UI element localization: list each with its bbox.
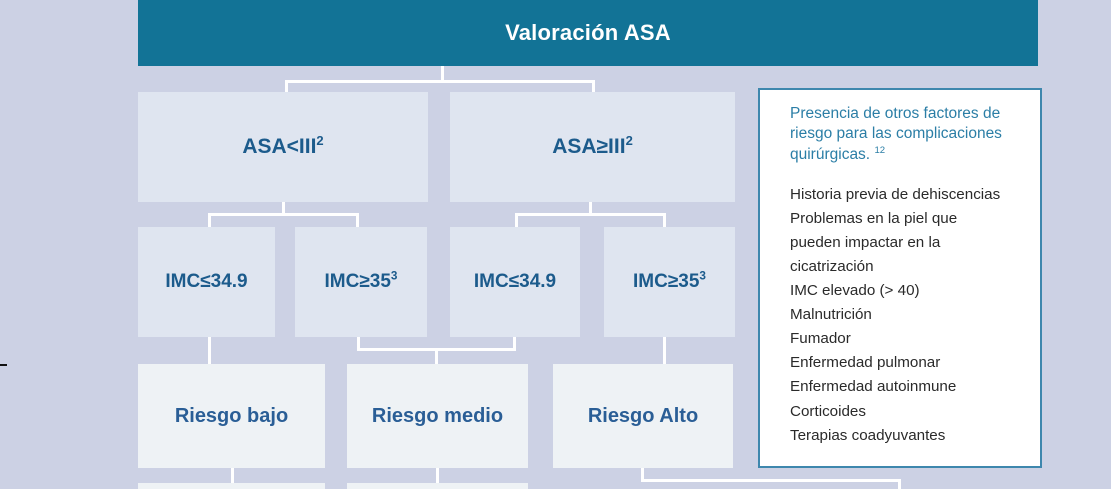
connector-bottom-horizontal <box>641 479 901 482</box>
info-panel-title: Presencia de otros factores de riesgo pa… <box>790 104 1022 165</box>
node-imc-4-superscript: 3 <box>699 270 706 283</box>
node-asa-high[interactable]: ASA≥III2 <box>450 92 735 202</box>
list-item: Malnutrición <box>790 303 1022 327</box>
list-item: Terapias coadyuvantes <box>790 424 1022 448</box>
node-imc-1-label: IMC≤34.9 <box>165 271 247 293</box>
connector-asa-low-up <box>285 80 288 92</box>
list-item: Enfermedad autoinmune <box>790 375 1022 399</box>
connector-imc-4-down <box>663 336 666 365</box>
node-valoracion-asa-label: Valoración ASA <box>505 20 671 46</box>
connector-imc-3-up <box>515 213 518 227</box>
node-imc-1[interactable]: IMC≤34.9 <box>138 227 275 337</box>
node-riesgo-bajo[interactable]: Riesgo bajo <box>138 364 325 468</box>
page-edge-mark <box>0 364 7 366</box>
info-panel-title-superscript: 12 <box>874 145 885 156</box>
list-item: Enfermedad pulmonar <box>790 351 1022 375</box>
node-valoracion-asa[interactable]: Valoración ASA <box>138 0 1038 66</box>
node-imc-3[interactable]: IMC≤34.9 <box>450 227 580 337</box>
info-panel-risk-factors: Presencia de otros factores de riesgo pa… <box>758 88 1042 468</box>
connector-asa-low-horizontal <box>208 213 359 216</box>
list-item: Fumador <box>790 327 1022 351</box>
node-riesgo-medio-label: Riesgo medio <box>372 405 503 428</box>
node-imc-2-superscript: 3 <box>391 270 398 283</box>
node-imc-4-label: IMC≥353 <box>633 271 706 293</box>
node-imc-2-label: IMC≥353 <box>325 271 398 293</box>
list-item: IMC elevado (> 40) <box>790 279 1022 303</box>
list-item: cicatrización <box>790 255 1022 279</box>
connector-header-horizontal <box>285 80 595 83</box>
list-item: Problemas en la piel que <box>790 207 1022 231</box>
node-bottom-stub-left[interactable] <box>138 483 325 489</box>
list-item: pueden impactar en la <box>790 231 1022 255</box>
node-riesgo-medio[interactable]: Riesgo medio <box>347 364 528 468</box>
list-item: Corticoides <box>790 400 1022 424</box>
connector-asa-high-up <box>592 80 595 92</box>
node-bottom-stub-middle[interactable] <box>347 483 528 489</box>
connector-imc-4-up <box>663 213 666 227</box>
connector-imc-1-up <box>208 213 211 227</box>
diagram-canvas: Valoración ASA ASA<III2 ASA≥III2 IMC≤34.… <box>0 0 1111 489</box>
connector-imc-1-down <box>208 336 211 365</box>
connector-medium-down <box>435 348 438 365</box>
list-item: Historia previa de dehiscencias <box>790 183 1022 207</box>
node-asa-high-superscript: 2 <box>626 133 633 148</box>
info-panel-title-text: Presencia de otros factores de riesgo pa… <box>790 105 1002 163</box>
node-asa-low[interactable]: ASA<III2 <box>138 92 428 202</box>
info-panel-list: Historia previa de dehiscencias Problema… <box>790 183 1022 447</box>
node-imc-2[interactable]: IMC≥353 <box>295 227 427 337</box>
node-asa-high-label: ASA≥III2 <box>552 135 633 159</box>
node-imc-3-label: IMC≤34.9 <box>474 271 556 293</box>
connector-asa-high-horizontal <box>515 213 666 216</box>
node-asa-low-superscript: 2 <box>316 133 323 148</box>
connector-imc-2-up <box>356 213 359 227</box>
node-riesgo-bajo-label: Riesgo bajo <box>175 405 288 428</box>
connector-bottom-right-down <box>898 479 901 489</box>
node-asa-low-label: ASA<III2 <box>242 135 323 159</box>
node-imc-4[interactable]: IMC≥353 <box>604 227 735 337</box>
node-riesgo-alto-label: Riesgo Alto <box>588 405 698 428</box>
node-riesgo-alto[interactable]: Riesgo Alto <box>553 364 733 468</box>
